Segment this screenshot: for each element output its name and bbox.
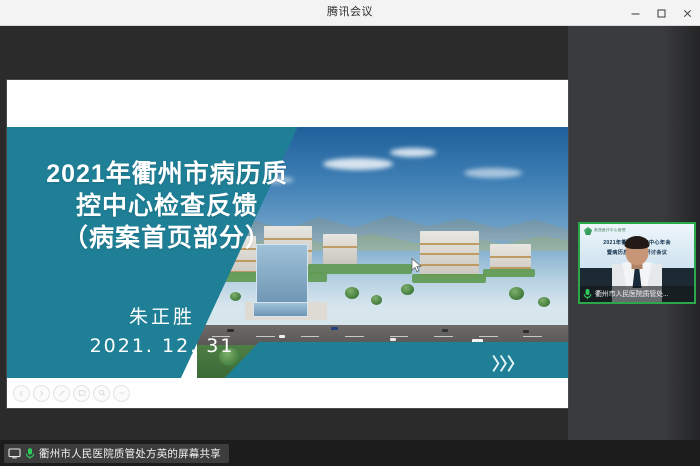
microphone-icon	[25, 447, 35, 460]
close-button[interactable]	[674, 0, 700, 26]
ppt-presentation-toolbar	[7, 378, 568, 408]
close-icon	[682, 8, 693, 19]
magnifier-icon	[98, 389, 106, 397]
meeting-stage: 〉〉〉 浙 江 衢 州 衢州有礼 QUZHOU YOULI 一 座 最 有 礼 …	[0, 26, 700, 440]
presentation-slide: 〉〉〉 浙 江 衢 州 衢州有礼 QUZHOU YOULI 一 座 最 有 礼 …	[7, 80, 568, 378]
chevron-arrows: 〉〉〉	[492, 357, 523, 374]
chevron-left-icon	[18, 390, 25, 397]
tencent-meeting-window: 腾讯会议	[0, 0, 700, 466]
slide-presenter-block: 朱正胜 2021. 12. 31	[17, 302, 307, 357]
maximize-icon	[656, 8, 667, 19]
next-slide-button[interactable]	[33, 385, 50, 402]
screen-share-indicator[interactable]: 衢州市人民医院质管处方英的屏幕共享	[4, 444, 229, 463]
slides-icon	[78, 389, 86, 397]
screen-share-icon	[8, 447, 21, 460]
participant-name-bar: 衢州市人民医院质管处...	[580, 286, 694, 302]
window-controls	[622, 0, 700, 26]
slide-title-line-2: 控中心检查反馈	[17, 190, 317, 222]
ellipsis-icon	[118, 389, 126, 397]
pen-tool-button[interactable]	[53, 385, 70, 402]
window-title: 腾讯会议	[0, 0, 700, 25]
participant-slide-logo-icon	[584, 227, 592, 235]
title-bar: 腾讯会议	[0, 0, 700, 26]
minimize-button[interactable]	[622, 0, 648, 26]
participant-name: 衢州市人民医院质管处...	[595, 289, 668, 299]
minimize-icon	[630, 8, 641, 19]
slide-header	[7, 80, 568, 127]
slide-title-line-3: （病案首页部分）	[17, 222, 317, 254]
slide-title-line-1: 2021年衢州市病历质	[17, 158, 317, 190]
maximize-button[interactable]	[648, 0, 674, 26]
presenter-name: 朱正胜	[17, 302, 307, 329]
screen-share-text: 衢州市人民医院质管处方英的屏幕共享	[39, 446, 221, 461]
chevron-right-icon	[38, 390, 45, 397]
slide-menu-button[interactable]	[73, 385, 90, 402]
presentation-date: 2021. 12. 31	[17, 335, 307, 357]
share-status-bar: 衢州市人民医院质管处方英的屏幕共享	[0, 440, 700, 466]
slide-title: 2021年衢州市病历质 控中心检查反馈 （病案首页部分）	[17, 158, 317, 254]
more-options-button[interactable]	[113, 385, 130, 402]
zoom-button[interactable]	[93, 385, 110, 402]
participant-video-tile[interactable]: 浙西医疗中心医院 2021年衢州市医疗中心年会 暨病历质控中心研讨会议	[578, 222, 696, 304]
previous-slide-button[interactable]	[13, 385, 30, 402]
shared-screen-view[interactable]: 〉〉〉 浙 江 衢 州 衢州有礼 QUZHOU YOULI 一 座 最 有 礼 …	[7, 80, 568, 408]
participant-slide-logo-text: 浙西医疗中心医院	[594, 228, 626, 233]
pen-icon	[58, 389, 66, 397]
microphone-icon	[583, 288, 592, 300]
